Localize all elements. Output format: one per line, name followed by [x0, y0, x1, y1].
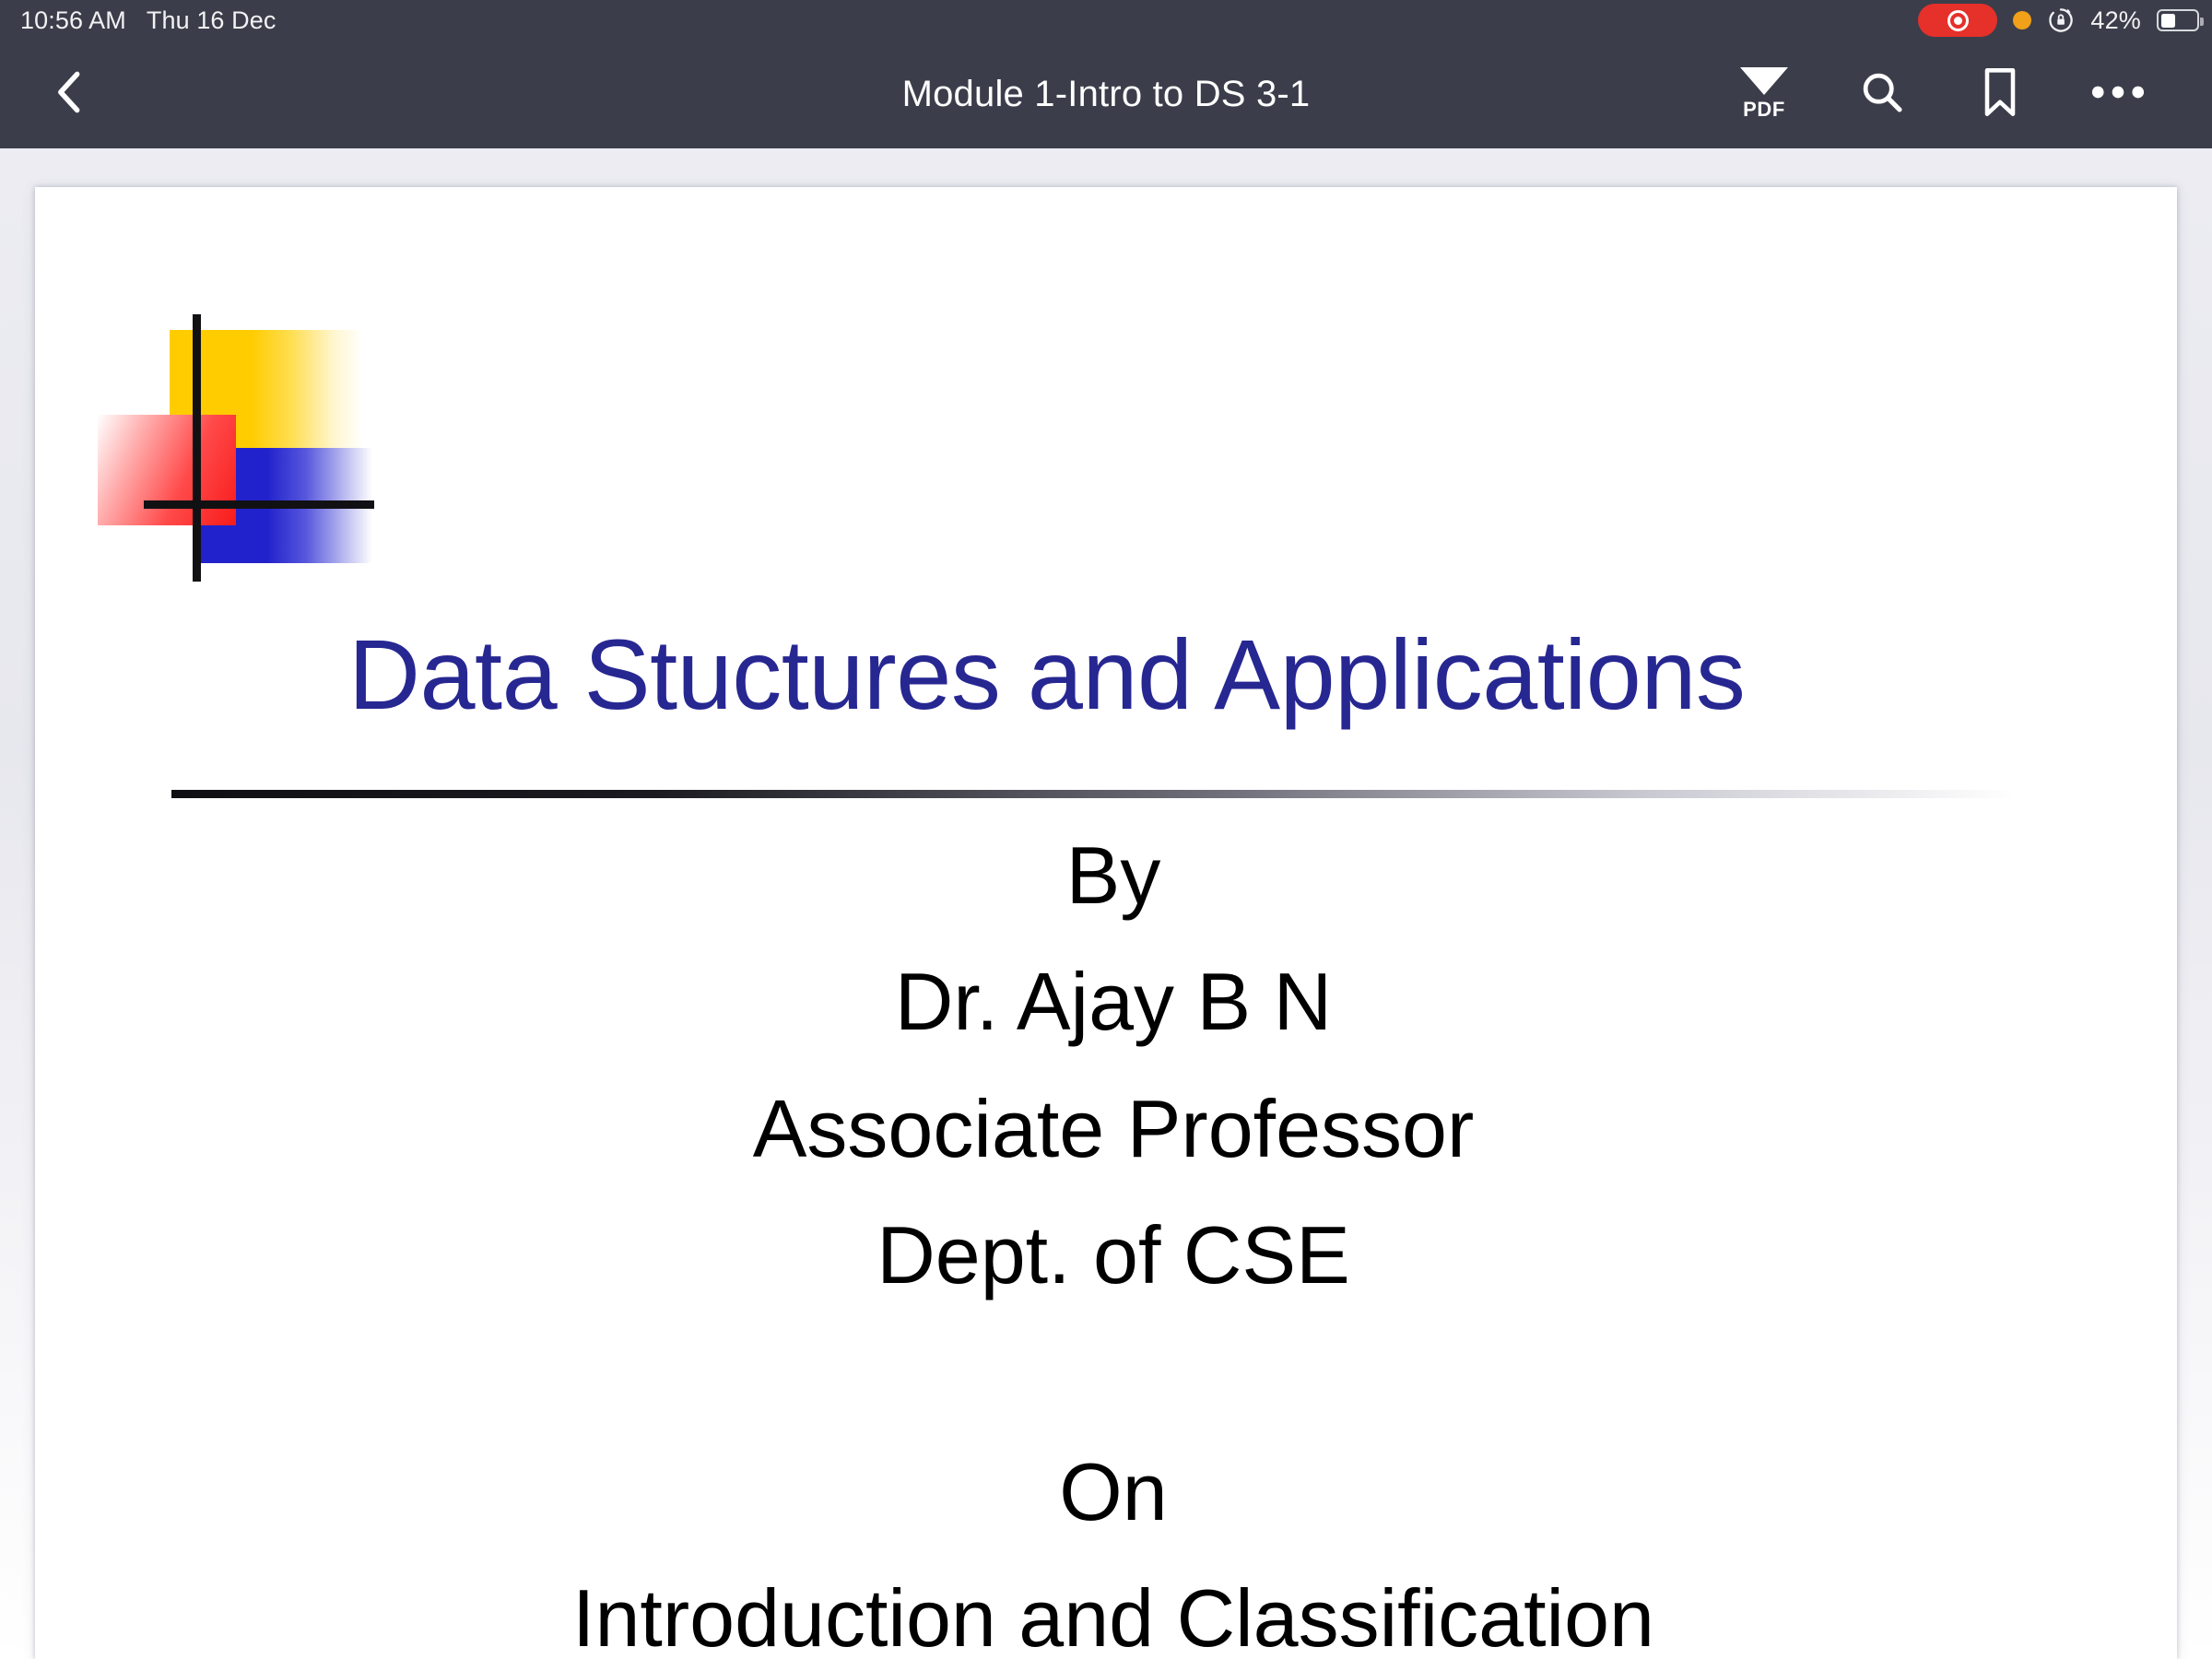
- battery-fill: [2161, 14, 2176, 28]
- slide-title: Data Stuctures and Applications: [348, 622, 2173, 726]
- powerpoint-blends-logo-icon: [98, 330, 374, 565]
- document-viewer[interactable]: Data Stuctures and Applications By Dr. A…: [0, 148, 2212, 1659]
- logo-horizontal-bar: [144, 500, 374, 509]
- battery-icon: [2157, 9, 2199, 31]
- status-bar: 10:56 AM Thu 16 Dec 42%: [0, 0, 2212, 41]
- bookmark-icon: [1980, 66, 2020, 123]
- status-date: Thu 16 Dec: [147, 6, 276, 35]
- status-bar-right: 42%: [1918, 4, 2199, 37]
- battery-percentage: 42%: [2090, 6, 2141, 35]
- record-ring-icon: [1947, 10, 1969, 31]
- document-toolbar: Module 1-Intro to DS 3-1 PDF: [0, 41, 2212, 148]
- search-icon: [1858, 68, 1906, 121]
- orange-privacy-dot-icon: [2013, 11, 2031, 29]
- pdf-label: PDF: [1743, 98, 1785, 122]
- logo-vertical-bar: [193, 314, 201, 582]
- toolbar-actions: PDF: [1735, 59, 2147, 131]
- pdf-export-button[interactable]: PDF: [1735, 59, 1794, 131]
- bookmark-button[interactable]: [1971, 59, 2030, 131]
- ellipsis-icon: [2091, 84, 2145, 105]
- title-divider: [171, 790, 2015, 798]
- status-clock: 10:56 AM: [20, 6, 126, 35]
- app-screen: 10:56 AM Thu 16 Dec 42%: [0, 0, 2212, 1659]
- slide-body-line: Introduction and Classification: [146, 1575, 2081, 1659]
- search-button[interactable]: [1853, 59, 1912, 131]
- screen-recording-indicator[interactable]: [1918, 4, 1997, 37]
- rotation-lock-icon: [2047, 6, 2075, 34]
- slide-page: Data Stuctures and Applications By Dr. A…: [35, 187, 2177, 1659]
- slide-body: By Dr. Ajay B N Associate Professor Dept…: [146, 832, 2081, 1659]
- triangle-down-icon: [1740, 67, 1788, 95]
- slide-body-line: Dr. Ajay B N: [146, 959, 2081, 1044]
- back-button[interactable]: [44, 69, 96, 121]
- record-dot-icon: [1954, 17, 1962, 25]
- logo-red-block: [98, 415, 236, 525]
- status-bar-left: 10:56 AM Thu 16 Dec: [20, 6, 276, 35]
- slide-body-line: By: [146, 832, 2081, 918]
- slide-body-line: Dept. of CSE: [146, 1212, 2081, 1298]
- slide-body-line: On: [146, 1449, 2081, 1535]
- back-chevron-icon: [54, 69, 86, 120]
- more-options-button[interactable]: [2088, 59, 2147, 131]
- slide-body-line: Associate Professor: [146, 1086, 2081, 1171]
